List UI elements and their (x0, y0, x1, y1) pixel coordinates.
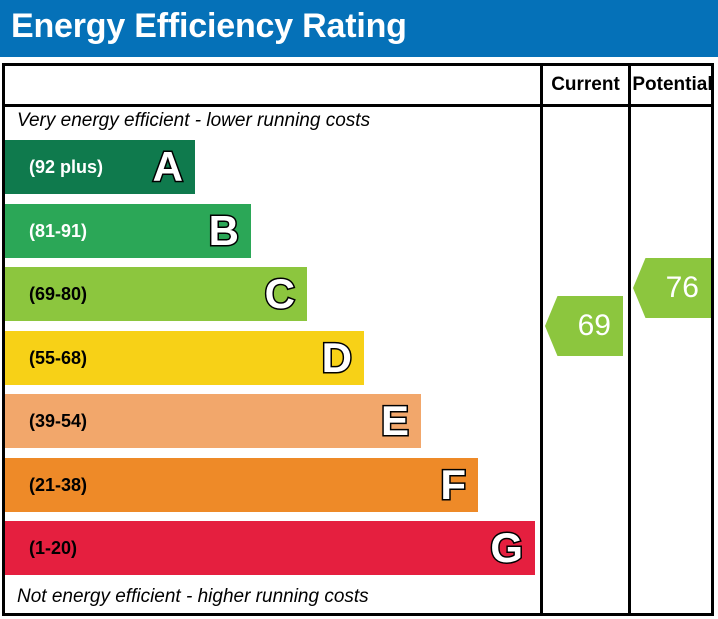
band-range-label-e: (39-54) (29, 394, 87, 448)
band-range-label-b: (81-91) (29, 204, 87, 258)
column-header-current: Current (543, 66, 628, 104)
band-range-label-c: (69-80) (29, 267, 87, 321)
caption-not-efficient: Not energy efficient - higher running co… (17, 586, 369, 608)
rating-arrow-potential: 76 (633, 258, 711, 318)
rating-band-b: (81-91)B (5, 204, 251, 258)
band-letter-f: F (440, 464, 466, 506)
band-letter-c: C (265, 273, 295, 315)
rating-band-c: (69-80)C (5, 267, 307, 321)
rating-band-g: (1-20)G (5, 521, 535, 575)
header-row-divider (2, 104, 714, 107)
band-letter-d: D (322, 337, 352, 379)
band-range-label-d: (55-68) (29, 331, 87, 385)
rating-band-d: (55-68)D (5, 331, 364, 385)
page-title: Energy Efficiency Rating (11, 7, 407, 46)
band-letter-e: E (381, 400, 409, 442)
rating-value-potential: 76 (666, 258, 699, 318)
band-range-label-a: (92 plus) (29, 140, 103, 194)
chart-title-bar: Energy Efficiency Rating (0, 0, 718, 57)
energy-efficiency-rating-chart: Energy Efficiency Rating Current Potenti… (0, 0, 718, 619)
band-letter-g: G (490, 527, 523, 569)
rating-band-a: (92 plus)A (5, 140, 195, 194)
band-letter-a: A (153, 146, 183, 188)
rating-band-f: (21-38)F (5, 458, 478, 512)
band-range-label-f: (21-38) (29, 458, 87, 512)
potential-column-divider (628, 63, 631, 616)
column-header-potential: Potential (631, 66, 714, 104)
rating-value-current: 69 (578, 296, 611, 356)
band-letter-b: B (209, 210, 239, 252)
current-column-divider (540, 63, 543, 616)
rating-band-e: (39-54)E (5, 394, 421, 448)
caption-very-efficient: Very energy efficient - lower running co… (17, 110, 370, 132)
rating-arrow-current: 69 (545, 296, 623, 356)
band-range-label-g: (1-20) (29, 521, 77, 575)
